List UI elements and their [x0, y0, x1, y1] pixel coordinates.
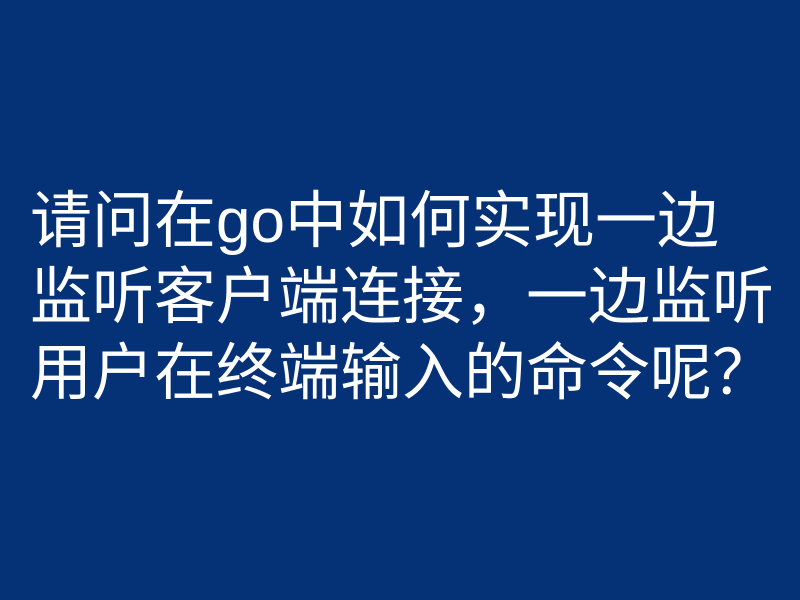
question-card: 请问在go中如何实现一边监听客户端连接，一边监听用户在终端输入的命令呢？ — [0, 0, 800, 600]
question-text: 请问在go中如何实现一边监听客户端连接，一边监听用户在终端输入的命令呢？ — [30, 184, 776, 412]
question-text-block: 请问在go中如何实现一边监听客户端连接，一边监听用户在终端输入的命令呢？ — [0, 184, 800, 412]
